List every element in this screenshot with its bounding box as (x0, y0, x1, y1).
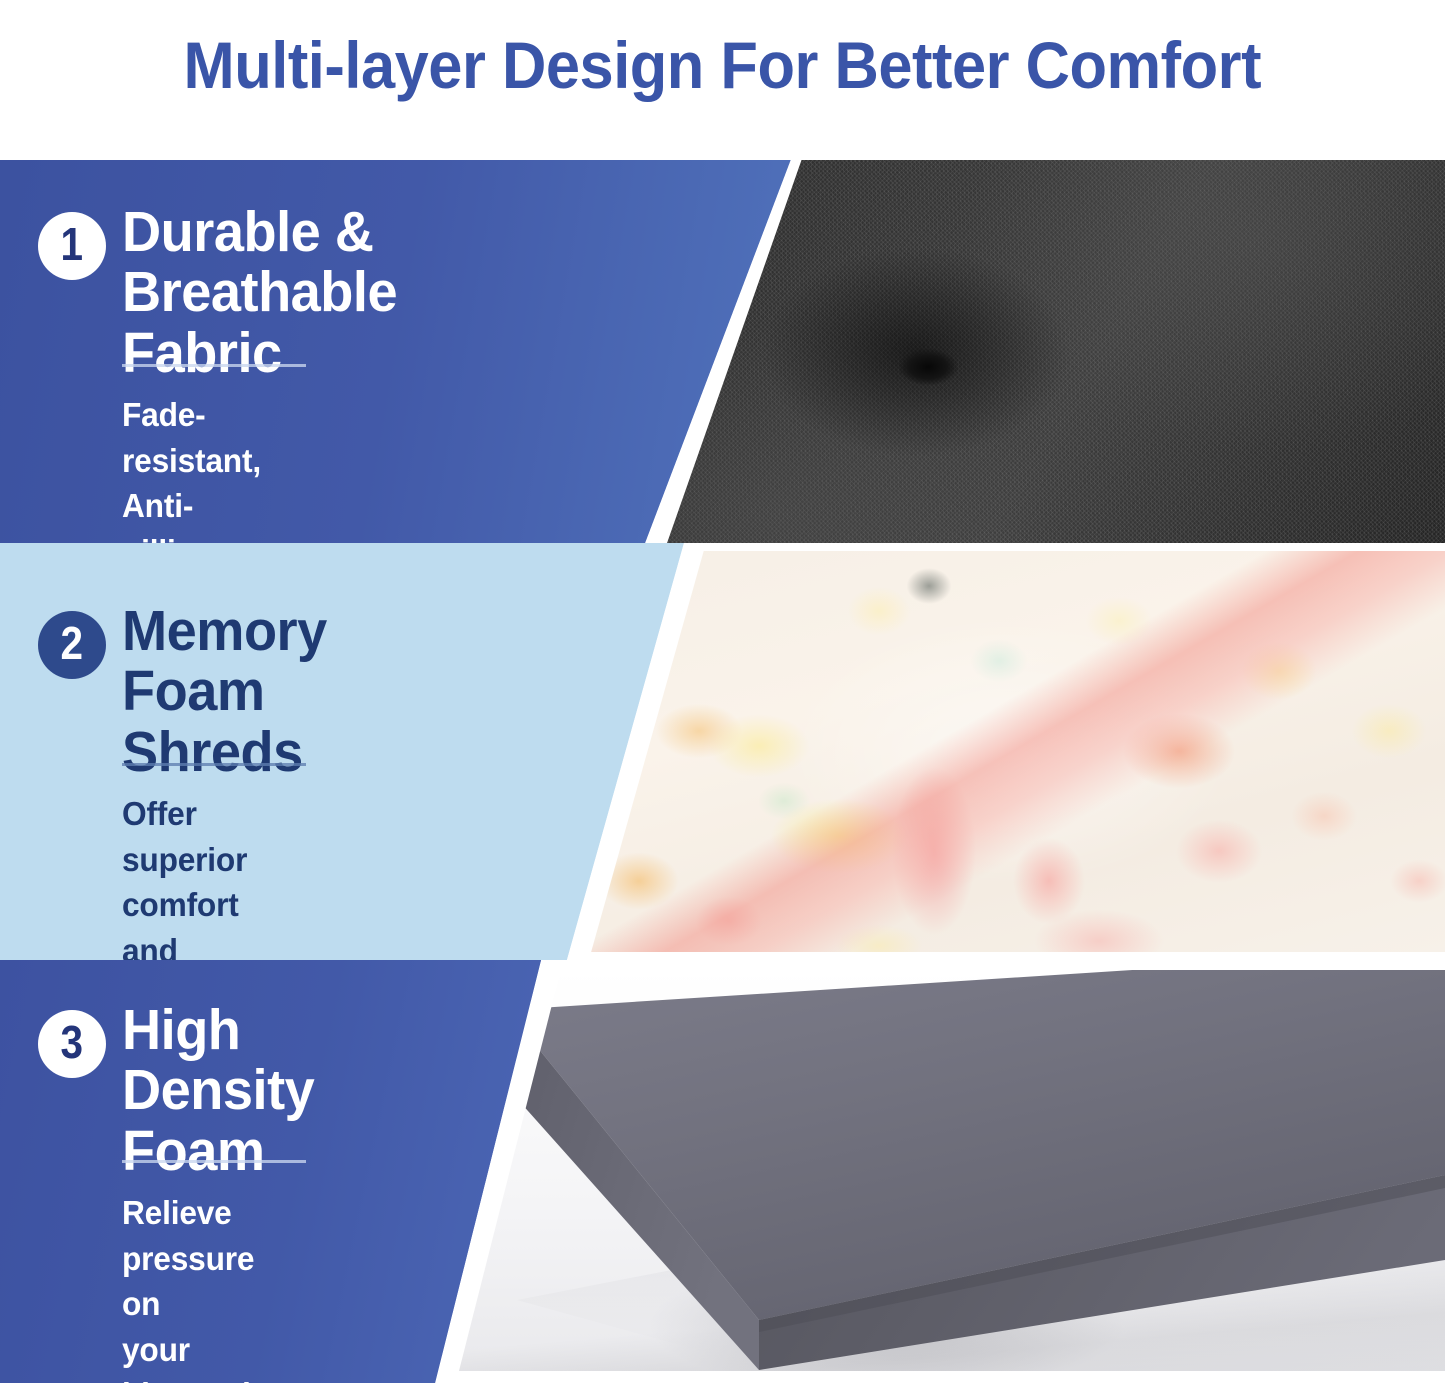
panel-3-photo-region (435, 960, 1445, 1383)
panel-2-heading: Memory Foam Shreds (122, 601, 327, 782)
title-bar: Multi-layer Design For Better Comfort (0, 0, 1445, 130)
step-badge-2-number: 2 (61, 620, 84, 666)
panel-2-photo-region (565, 543, 1445, 960)
step-badge-2: 2 (38, 611, 106, 679)
panel-1-subtext: Fade-resistant, Anti-pilling (122, 392, 261, 543)
panel-2-subtext: Offer superior comfort and support (122, 791, 247, 960)
step-badge-1-number: 1 (61, 221, 84, 267)
step-badge-3-number: 3 (61, 1019, 84, 1065)
step-badge-1: 1 (38, 212, 106, 280)
feature-panel-3: 3 High Density Foam Relieve pressure on … (0, 960, 1445, 1383)
page-title: Multi-layer Design For Better Comfort (184, 32, 1262, 98)
step-badge-3: 3 (38, 1010, 106, 1078)
high-density-foam-image (447, 970, 1445, 1371)
panel-3-divider (122, 1160, 306, 1163)
panel-2-divider (122, 763, 306, 766)
foam-block-illustration (447, 970, 1445, 1371)
feature-panel-1: 1 Durable & Breathable Fabric Fade-resis… (0, 160, 1445, 543)
panel-1-heading: Durable & Breathable Fabric (122, 202, 397, 383)
panel-1-divider (122, 364, 306, 367)
memory-foam-shreds-image (579, 551, 1445, 952)
feature-panel-2: 2 Memory Foam Shreds Offer superior comf… (0, 543, 1445, 960)
panel-3-subtext: Relieve pressure on your hips and tailbo… (122, 1190, 254, 1383)
panel-3-heading: High Density Foam (122, 1000, 314, 1181)
infographic-root: Multi-layer Design For Better Comfort 1 … (0, 0, 1445, 1383)
